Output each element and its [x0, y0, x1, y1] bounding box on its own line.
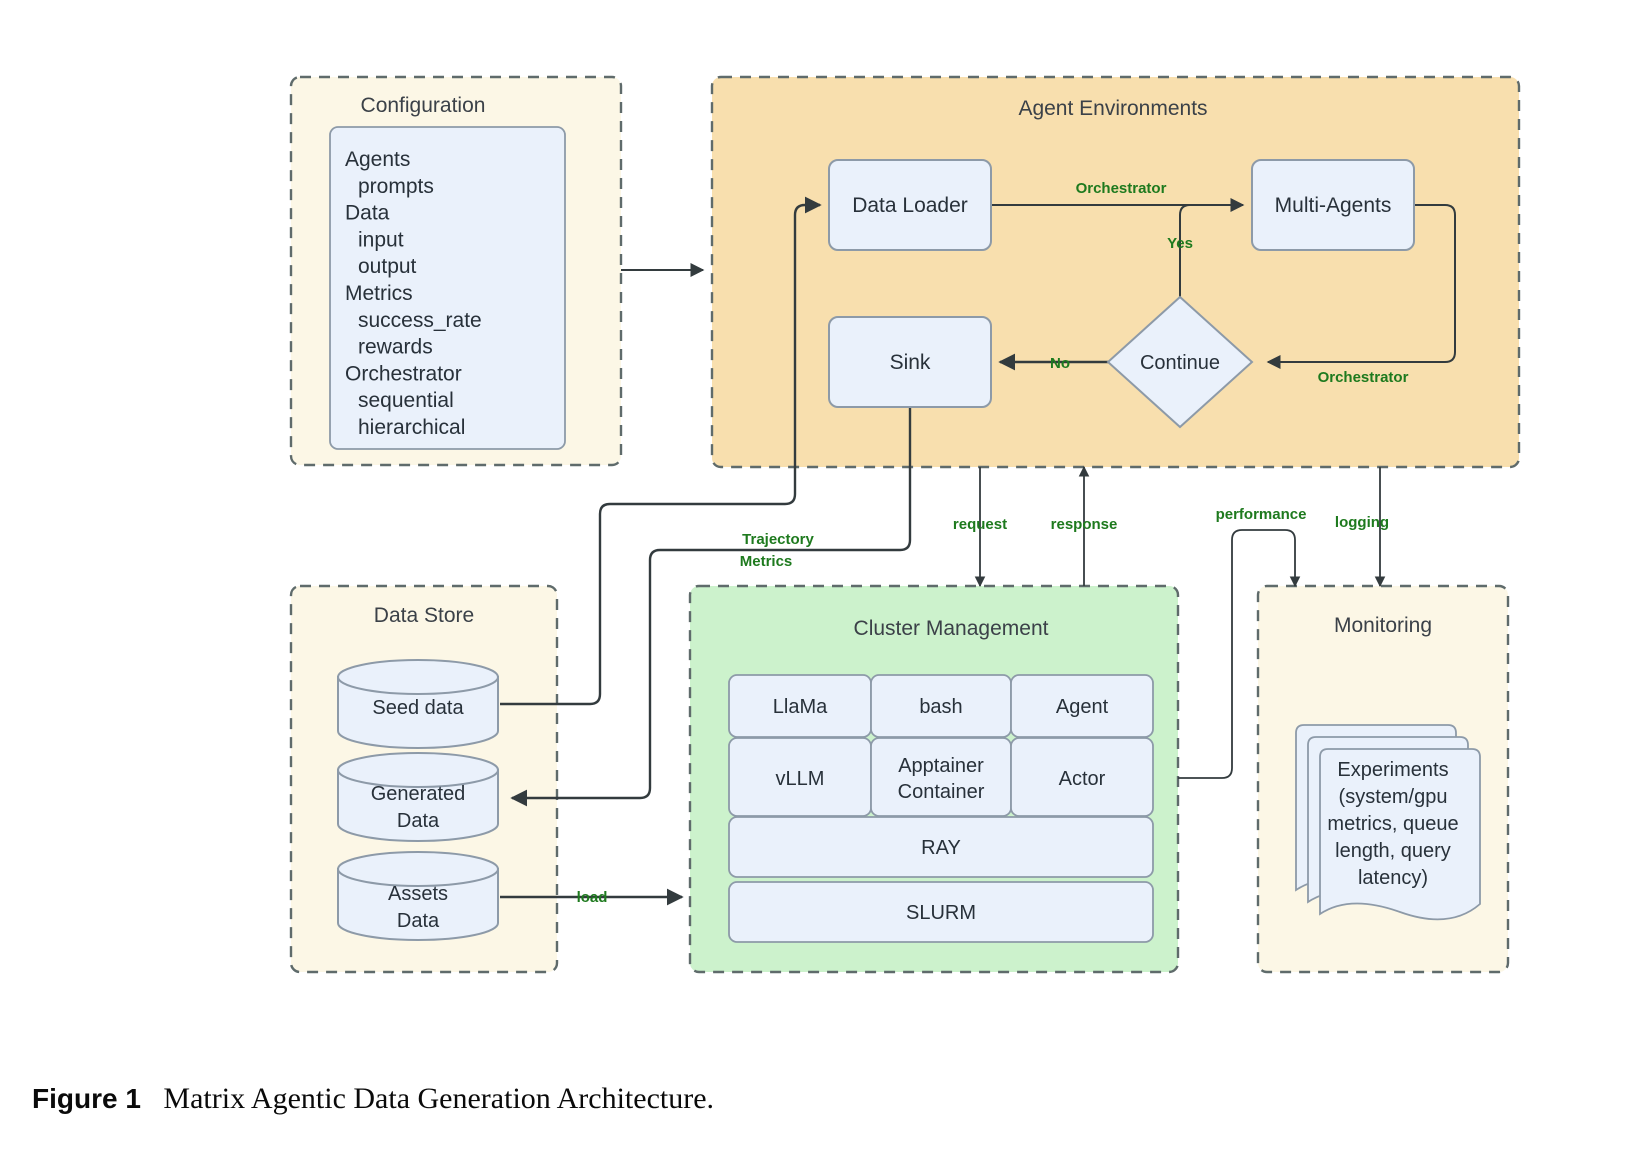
cluster-cell-actor-label: Actor: [1059, 768, 1106, 790]
figure-caption: Figure 1 Matrix Agentic Data Generation …: [32, 1082, 714, 1116]
cylinder-assets-data[interactable]: Assets Data: [338, 852, 498, 940]
cylinder-assets-data-label1: Assets: [388, 883, 448, 905]
cluster-grid: LlaMa bash Agent vLLM Apptainer Containe…: [729, 675, 1153, 942]
experiments-line-3: metrics, queue: [1327, 813, 1458, 835]
panel-agent-environments-frame: [712, 77, 1519, 467]
node-data-loader[interactable]: Data Loader: [829, 160, 991, 250]
cluster-cell-apptainer-label2: Container: [898, 781, 985, 803]
cylinder-seed-data[interactable]: Seed data: [338, 660, 498, 748]
edge-label-response: response: [1051, 516, 1118, 533]
experiments-line-4: length, query: [1335, 840, 1451, 862]
experiments-line-2: (system/gpu: [1339, 786, 1448, 808]
figure-caption-text: Matrix Agentic Data Generation Architect…: [163, 1082, 714, 1115]
cylinder-generated-data-label2: Data: [397, 810, 440, 832]
edge-label-orchestrator-top: Orchestrator: [1076, 180, 1167, 197]
architecture-diagram: Configuration Agent Environments Data St…: [0, 0, 1648, 1166]
configuration-line-7: rewards: [358, 336, 433, 359]
panel-agent-environments-title: Agent Environments: [1018, 97, 1207, 120]
configuration-line-0: Agents: [345, 148, 410, 171]
panel-monitoring-title: Monitoring: [1334, 614, 1432, 637]
node-continue-label: Continue: [1140, 352, 1220, 374]
experiments-line-1: Experiments: [1337, 759, 1448, 781]
node-sink-label: Sink: [890, 351, 931, 374]
cluster-cell-apptainer[interactable]: [871, 738, 1011, 816]
configuration-line-5: Metrics: [345, 282, 413, 305]
configuration-line-3: input: [358, 228, 404, 251]
configuration-line-8: Orchestrator: [345, 362, 462, 385]
figure-stage: Configuration Agent Environments Data St…: [0, 0, 1648, 1166]
node-multi-agents[interactable]: Multi-Agents: [1252, 160, 1414, 250]
panel-cluster-management-title: Cluster Management: [854, 617, 1049, 640]
edge-label-yes: Yes: [1167, 235, 1193, 252]
edge-label-trajectory: Trajectory: [742, 531, 814, 548]
cylinder-seed-data-top: [338, 660, 498, 694]
cluster-cell-agent-label: Agent: [1056, 696, 1109, 718]
monitoring-experiments-stack[interactable]: Experiments (system/gpu metrics, queue l…: [1296, 725, 1480, 919]
edge-label-request: request: [953, 516, 1007, 533]
cluster-cell-vllm-label: vLLM: [776, 768, 825, 790]
cylinder-assets-data-top: [338, 852, 498, 886]
panel-data-store-title: Data Store: [374, 604, 474, 627]
cylinder-generated-data-top: [338, 753, 498, 787]
panel-configuration: Configuration: [291, 77, 621, 465]
cylinder-seed-data-label: Seed data: [372, 697, 464, 719]
configuration-line-4: output: [358, 255, 417, 278]
cylinder-generated-data-label1: Generated: [371, 783, 466, 805]
cluster-cell-ray-label: RAY: [921, 837, 961, 859]
cluster-cell-apptainer-label1: Apptainer: [898, 755, 984, 777]
cluster-cell-llama-label: LlaMa: [773, 696, 828, 718]
configuration-line-6: success_rate: [358, 309, 482, 332]
panel-agent-environments: Agent Environments: [712, 77, 1519, 467]
configuration-line-1: prompts: [358, 175, 434, 198]
cylinder-assets-data-label2: Data: [397, 910, 440, 932]
edge-label-orchestrator-bottom: Orchestrator: [1318, 369, 1409, 386]
configuration-line-2: Data: [345, 202, 390, 225]
cluster-cell-bash-label: bash: [919, 696, 962, 718]
node-sink[interactable]: Sink: [829, 317, 991, 407]
edge-label-performance: performance: [1216, 506, 1307, 523]
edge-label-no: No: [1050, 355, 1070, 372]
experiments-line-5: latency): [1358, 867, 1428, 889]
configuration-line-9: sequential: [358, 389, 454, 412]
cluster-cell-slurm-label: SLURM: [906, 902, 976, 924]
configuration-line-10: hierarchical: [358, 416, 465, 439]
node-data-loader-label: Data Loader: [852, 194, 968, 217]
figure-caption-label: Figure 1: [32, 1083, 141, 1114]
edge-label-logging: logging: [1335, 514, 1389, 531]
node-multi-agents-label: Multi-Agents: [1275, 194, 1392, 217]
cylinder-generated-data[interactable]: Generated Data: [338, 753, 498, 841]
edge-label-metrics: Metrics: [740, 553, 793, 570]
edge-label-load: load: [577, 889, 608, 906]
panel-configuration-title: Configuration: [361, 94, 486, 117]
